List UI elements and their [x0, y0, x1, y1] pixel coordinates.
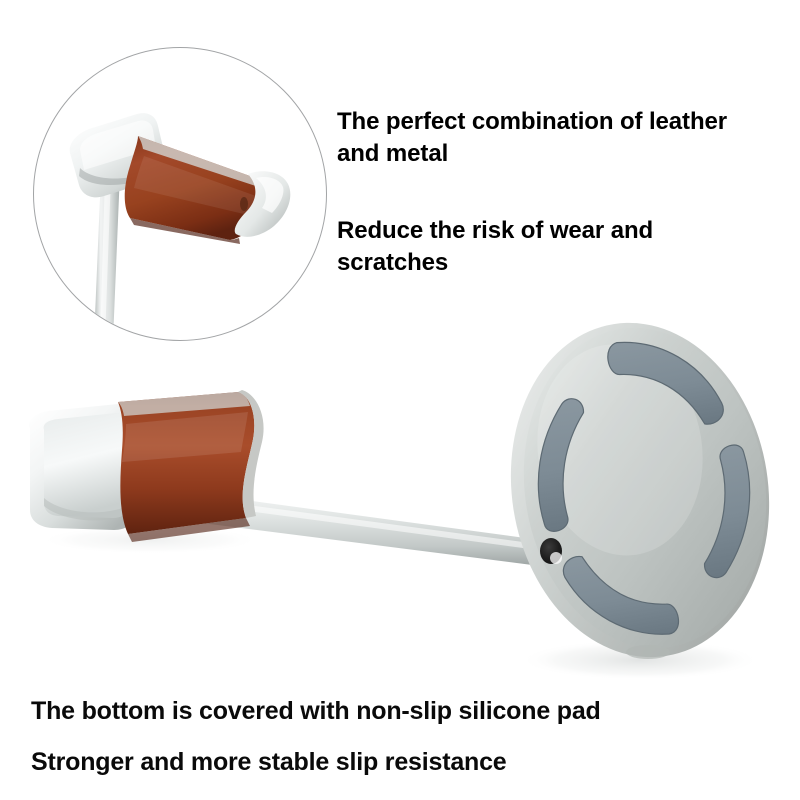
product-feature-image: The perfect combination of leather and m… — [0, 0, 800, 800]
headline-leather-metal: The perfect combination of leather and m… — [337, 106, 757, 169]
handle-cap-inner — [44, 413, 128, 518]
screw-hole-highlight — [550, 552, 562, 564]
base-disc — [487, 304, 792, 676]
headline-wear-scratches: Reduce the risk of wear and scratches — [337, 215, 767, 278]
footer-non-slip-pad: The bottom is covered with non-slip sili… — [31, 697, 601, 726]
disc-foot — [626, 645, 670, 659]
footer-slip-resistance: Stronger and more stable slip resistance — [31, 748, 507, 777]
main-product-illustration — [0, 300, 800, 700]
inset-illustration — [34, 48, 326, 340]
close-up-detail-circle — [33, 47, 327, 341]
end-cap-screw — [240, 197, 248, 211]
